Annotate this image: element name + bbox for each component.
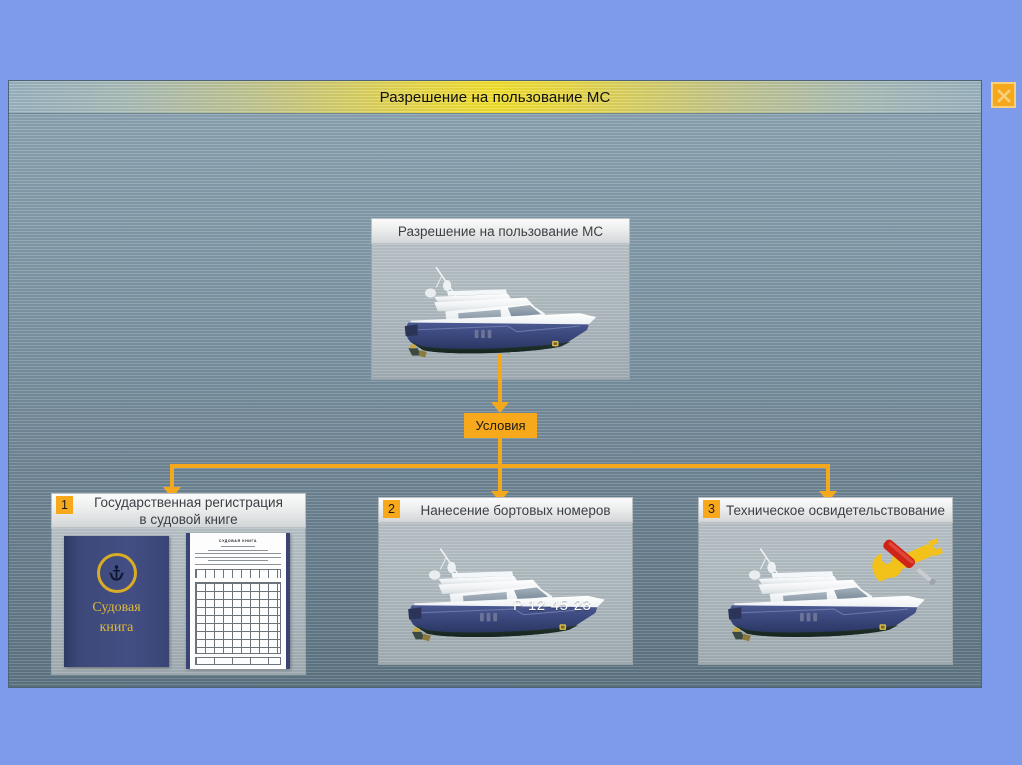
page-title: Разрешение на пользование МС <box>380 89 611 106</box>
title-bar: Разрешение на пользование МС <box>9 81 981 114</box>
card-technical-inspection-body <box>698 523 953 665</box>
form-rule <box>195 557 281 558</box>
card-permission-title: Разрешение на пользование МС <box>376 223 625 240</box>
condition-label: Условия <box>475 418 525 433</box>
form-rule <box>195 564 281 565</box>
card-1-title-line-2: в судовой книге <box>139 512 237 527</box>
anchor-emblem <box>97 553 137 593</box>
ship-book-title-line-1: Судовая <box>92 600 140 615</box>
card-technical-inspection[interactable]: 3 Техническое освидетельствование <box>698 497 953 665</box>
close-x-icon <box>996 87 1012 103</box>
card-state-registration-header: 1 Государственная регистрация в судовой … <box>51 493 306 528</box>
registration-number: Р 12-45-23 <box>513 597 591 614</box>
ship-book-cover: Судовая книга <box>64 536 169 667</box>
close-button[interactable] <box>991 82 1016 108</box>
form-rule <box>221 546 255 547</box>
arrow-head-condition <box>491 402 509 413</box>
card-1-number-badge: 1 <box>56 496 73 514</box>
card-board-numbers[interactable]: 2 Нанесение бортовых номеров Р 12-45-23 <box>378 497 633 665</box>
card-permission-header: Разрешение на пользование МС <box>371 218 630 244</box>
form-table-footer <box>195 657 281 665</box>
card-technical-inspection-header: 3 Техническое освидетельствование <box>698 497 953 523</box>
card-2-number-badge: 2 <box>383 500 400 518</box>
card-board-numbers-title: Нанесение бортовых номеров <box>403 502 628 519</box>
form-table-head <box>195 569 281 578</box>
ship-book-form-page: СУДОВАЯ КНИГА <box>186 533 290 669</box>
form-rule <box>208 550 268 551</box>
anchor-icon <box>107 564 126 583</box>
form-table-grid <box>195 582 281 654</box>
connector-trunk-lower <box>498 438 502 466</box>
connector-branch-3 <box>826 464 830 493</box>
card-state-registration-body: Судовая книга СУДОВАЯ КНИГА <box>51 528 306 675</box>
connector-branch-2 <box>498 464 502 493</box>
ship-book-title-line-2: книга <box>100 620 134 635</box>
card-1-title-line-1: Государственная регистрация <box>94 495 283 510</box>
card-board-numbers-body: Р 12-45-23 <box>378 523 633 665</box>
form-rule <box>208 560 268 561</box>
card-state-registration[interactable]: 1 Государственная регистрация в судовой … <box>51 493 306 675</box>
card-3-number-badge: 3 <box>703 500 720 518</box>
card-technical-inspection-title: Техническое освидетельствование <box>723 502 948 519</box>
card-state-registration-title: Государственная регистрация в судовой кн… <box>76 494 301 528</box>
slide-panel: Разрешение на пользование МС Разрешение … <box>8 80 982 688</box>
ship-book-form-title: СУДОВАЯ КНИГА <box>195 539 281 543</box>
motor-yacht-illustration <box>393 537 620 649</box>
connector-branch-1 <box>170 464 174 489</box>
wrench-screwdriver-icon <box>862 525 946 592</box>
connector-trunk-upper <box>498 354 502 404</box>
motor-yacht-illustration <box>390 256 611 365</box>
condition-button[interactable]: Условия <box>464 413 537 438</box>
card-board-numbers-header: 2 Нанесение бортовых номеров <box>378 497 633 523</box>
ship-book-title: Судовая книга <box>64 598 169 638</box>
form-rule <box>195 553 281 554</box>
